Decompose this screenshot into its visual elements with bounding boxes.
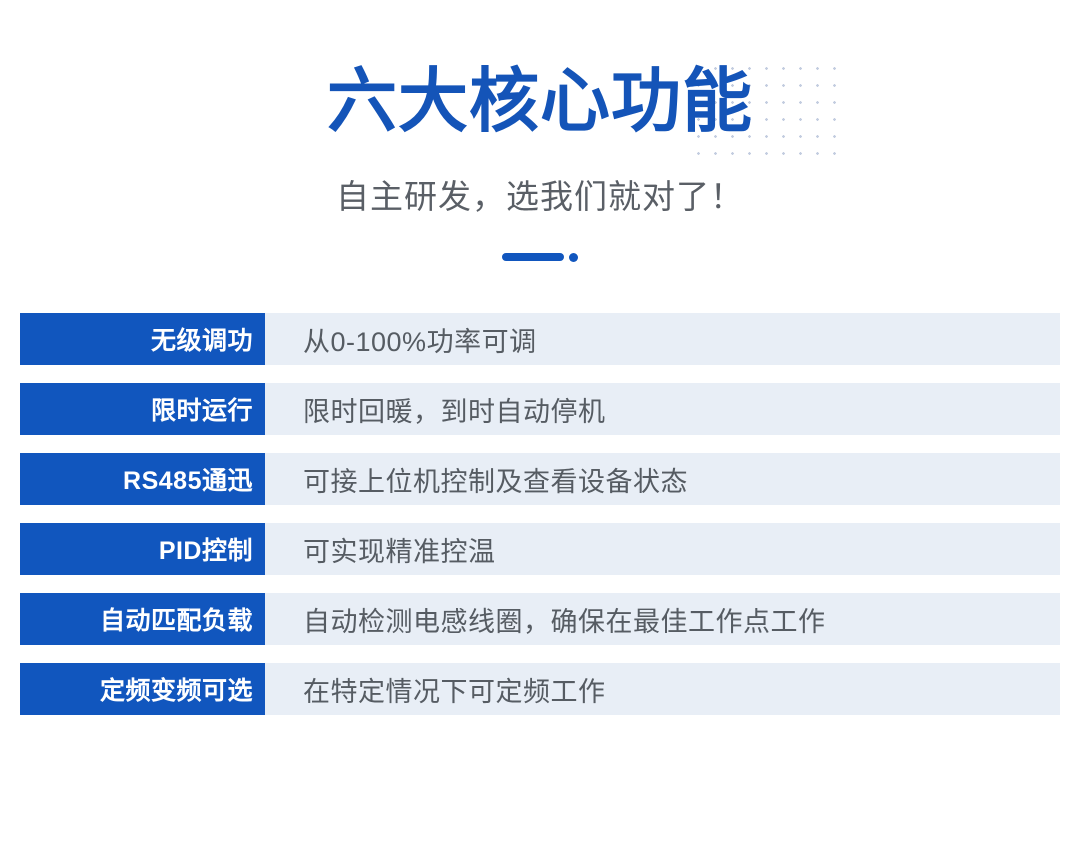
feature-row: 限时运行 限时回暖，到时自动停机 [0,383,1080,435]
feature-description: 自动检测电感线圈，确保在最佳工作点工作 [265,593,826,645]
page-header: 六大核心功能 自主研发，选我们就对了！ [0,0,1080,285]
page-subtitle: 自主研发，选我们就对了！ [0,175,1080,219]
feature-list: 无级调功 从0-100%功率可调 限时运行 限时回暖，到时自动停机 RS485通… [0,313,1080,733]
feature-row: 定频变频可选 在特定情况下可定频工作 [0,663,1080,715]
divider-dot [569,253,578,262]
feature-row: 无级调功 从0-100%功率可调 [0,313,1080,365]
feature-label: 自动匹配负载 [20,593,265,645]
feature-row: 自动匹配负载 自动检测电感线圈，确保在最佳工作点工作 [0,593,1080,645]
feature-description: 可实现精准控温 [265,523,496,575]
divider-bar [502,253,564,261]
feature-label: 无级调功 [20,313,265,365]
feature-label: 限时运行 [20,383,265,435]
feature-row: RS485通迅 可接上位机控制及查看设备状态 [0,453,1080,505]
page-title: 六大核心功能 [0,63,1080,139]
feature-description: 从0-100%功率可调 [265,313,537,365]
feature-label: PID控制 [20,523,265,575]
feature-description: 限时回暖，到时自动停机 [265,383,606,435]
feature-row: PID控制 可实现精准控温 [0,523,1080,575]
feature-description: 可接上位机控制及查看设备状态 [265,453,688,505]
feature-description: 在特定情况下可定频工作 [265,663,606,715]
feature-label: RS485通迅 [20,453,265,505]
divider [0,250,1080,264]
feature-label: 定频变频可选 [20,663,265,715]
